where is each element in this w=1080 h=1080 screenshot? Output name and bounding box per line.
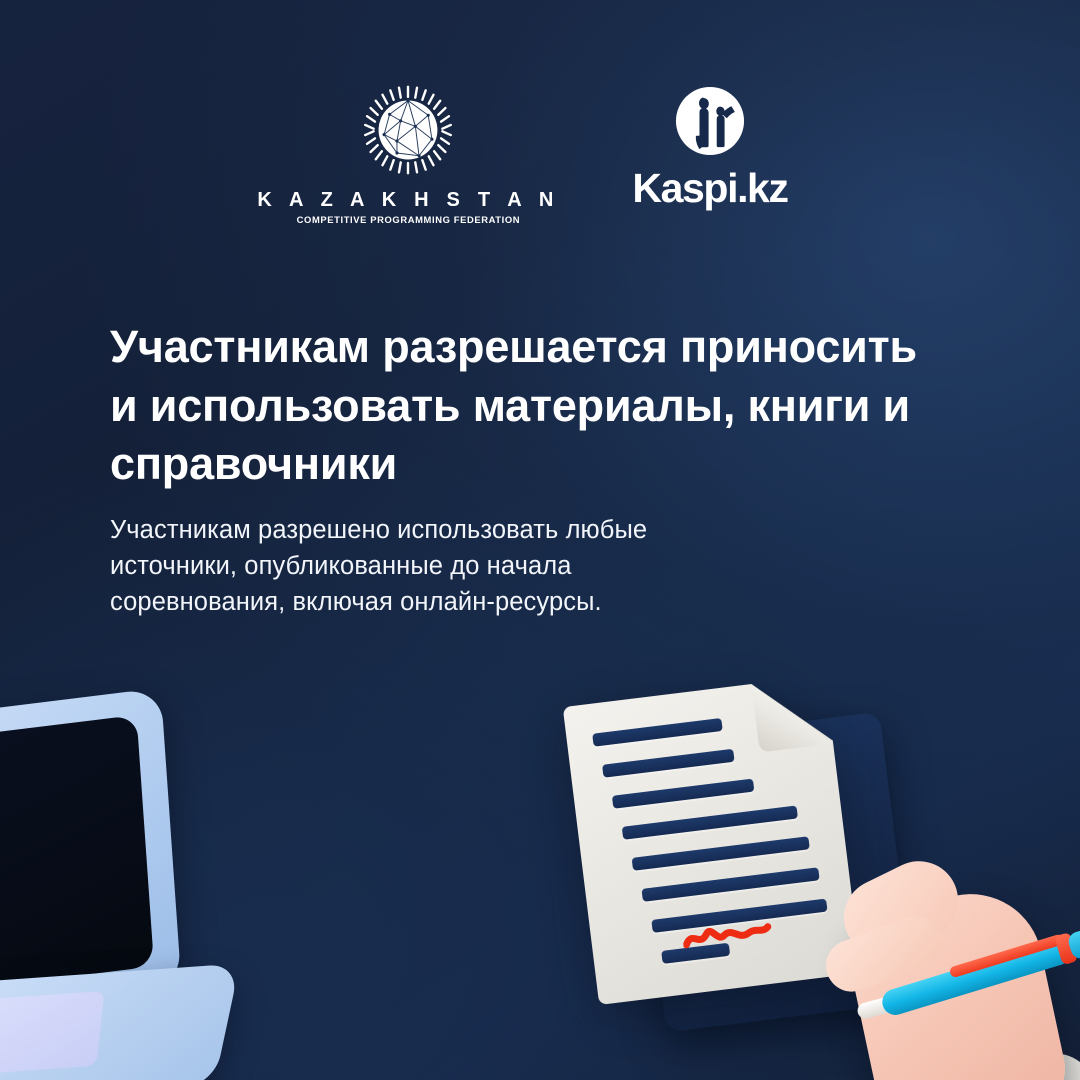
document-text-line <box>632 836 810 871</box>
kaspi-two-figures-circle-emblem-icon <box>673 84 747 158</box>
laptop-keyboard <box>0 991 105 1080</box>
kaspi-wordmark: Kaspi.kz <box>632 168 787 209</box>
document-text-line <box>622 805 798 839</box>
slide-canvas: K A Z A K H S T A N COMPETITIVE PROGRAMM… <box>0 0 1080 1080</box>
kcpf-wordmark: K A Z A K H S T A N <box>257 190 559 210</box>
kaspi-logo-group: Kaspi.kz <box>632 84 787 209</box>
kcpf-tagline: COMPETITIVE PROGRAMMING FEDERATION <box>297 215 521 224</box>
document-text-line <box>592 718 723 747</box>
logo-bar: K A Z A K H S T A N COMPETITIVE PROGRAMM… <box>0 84 1080 224</box>
copy-block: Участникам разрешается приносить и испол… <box>110 318 940 620</box>
hand-holding-pen <box>790 840 1080 1080</box>
document-text-line <box>612 779 755 809</box>
kcpf-logo-group: K A Z A K H S T A N COMPETITIVE PROGRAMM… <box>292 84 524 224</box>
laptop-screen <box>0 715 154 1000</box>
laptop-base <box>0 963 240 1080</box>
kazakhstan-sun-network-emblem-icon <box>362 84 454 176</box>
document-text-line <box>602 749 735 778</box>
laptop-3d-illustration <box>0 672 307 1080</box>
document-signing-3d-illustration <box>570 680 1080 1080</box>
page-subtitle: Участникам разрешено использовать любые … <box>110 512 750 621</box>
page-title: Участникам разрешается приносить и испол… <box>110 318 940 494</box>
